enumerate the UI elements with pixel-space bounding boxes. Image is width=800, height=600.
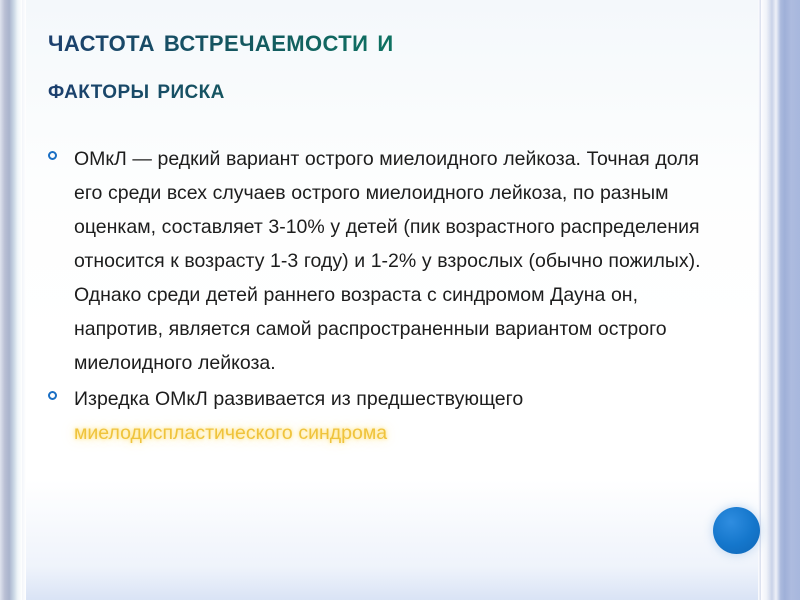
- presentation-slide: Частота встречаемости и факторы риска ОМ…: [0, 0, 800, 600]
- slide-title-line-2: факторы риска: [48, 65, 688, 114]
- list-item: Изредка ОМкЛ развивается из предшествующ…: [44, 382, 704, 450]
- bullet-2-text: Изредка ОМкЛ развивается из предшествующ…: [74, 388, 523, 410]
- left-gradient-band: [0, 0, 22, 600]
- bullet-paragraph-2: Изредка ОМкЛ развивается из предшествующ…: [74, 382, 704, 450]
- bullet-paragraph-1: ОМкЛ — редкий вариант острого миелоидног…: [74, 142, 704, 380]
- blue-circle-decoration: [713, 507, 760, 554]
- ring-bullet-icon: [48, 391, 57, 400]
- ring-bullet-icon: [48, 151, 57, 160]
- slide-title: Частота встречаемости и факторы риска: [48, 16, 688, 114]
- background-wash-bottom: [0, 480, 800, 600]
- bullet-1-text: ОМкЛ — редкий вариант острого миелоидног…: [74, 148, 701, 374]
- right-band-highlight: [758, 0, 761, 600]
- hyperlink-myelodysplastic-syndrome[interactable]: миелодиспластического синдрома: [74, 422, 387, 444]
- left-band-highlight: [22, 0, 26, 600]
- list-item: ОМкЛ — редкий вариант острого миелоидног…: [44, 142, 704, 380]
- slide-title-line-1: Частота встречаемости и: [48, 16, 688, 65]
- slide-body: ОМкЛ — редкий вариант острого миелоидног…: [44, 142, 704, 452]
- right-gradient-band: [760, 0, 800, 600]
